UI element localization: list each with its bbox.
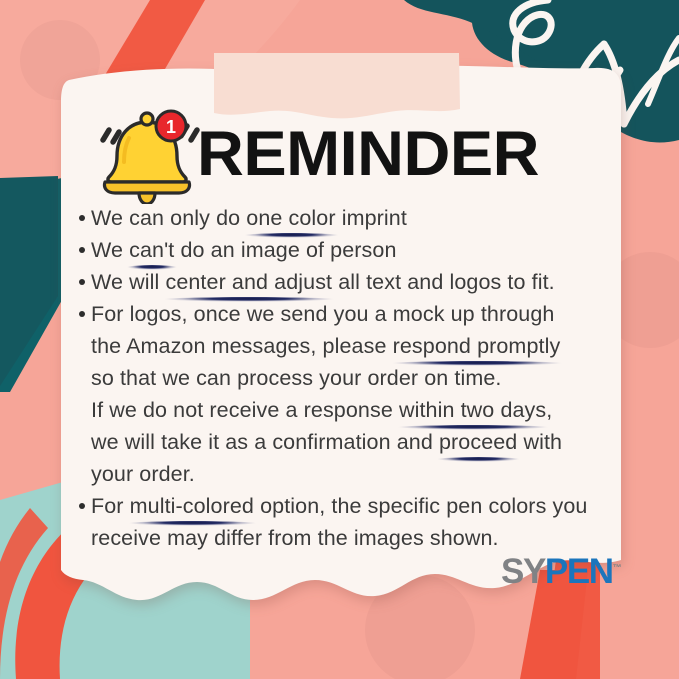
underlined-phrase: one color [246, 202, 335, 234]
bell-badge: 1 [156, 111, 186, 141]
bullet-text: We will center and adjust all text and l… [91, 266, 555, 298]
text-segment: We can only do [91, 206, 246, 230]
text-segment: receive may differ from the images shown… [91, 526, 499, 550]
bell-notification-icon: 1 [95, 104, 203, 204]
bullet-dot-icon [79, 311, 85, 317]
bullet-line: we will take it as a confirmation and pr… [73, 426, 626, 458]
underlined-phrase: multi-colored [130, 490, 254, 522]
bullet-dot-icon [79, 215, 85, 221]
bullet-text: We can't do an image of person [91, 234, 397, 266]
text-segment: the Amazon messages, please [91, 334, 393, 358]
text-segment: with [517, 430, 562, 454]
underlined-phrase: can't [129, 234, 174, 266]
bullet-dot-icon [79, 247, 85, 253]
underlined-phrase: proceed [439, 426, 517, 458]
bullet-text: For logos, once we send you a mock up th… [91, 298, 554, 330]
bullet-line: We can only do one color imprint [73, 202, 626, 234]
bullet-line: the Amazon messages, please respond prom… [73, 330, 626, 362]
card-header: 1 REMINDER [55, 100, 626, 210]
bullet-text: receive may differ from the images shown… [91, 522, 499, 554]
text-segment: If we do not receive a response [91, 398, 399, 422]
bullet-dot-icon [79, 279, 85, 285]
bullet-text: your order. [91, 458, 195, 490]
logo-text-sy: SY [501, 552, 545, 591]
bullet-line: so that we can process your order on tim… [73, 362, 626, 394]
text-segment: For logos, once we send you a mock up th… [91, 302, 554, 326]
note-card-content: 1 REMINDER We can only do one color impr… [55, 62, 626, 624]
text-segment: all text and logos to fit. [332, 270, 555, 294]
bullet-text: For multi-colored option, the specific p… [91, 490, 587, 522]
bullet-line: We can't do an image of person [73, 234, 626, 266]
text-segment: For [91, 494, 130, 518]
sypen-logo: SYPEN™ [501, 552, 622, 592]
bullet-text: we will take it as a confirmation and pr… [91, 426, 562, 458]
bullet-text: the Amazon messages, please respond prom… [91, 330, 560, 362]
bullet-text: so that we can process your order on tim… [91, 362, 502, 394]
text-segment: option, the specific pen colors you [254, 494, 587, 518]
text-segment: , [546, 398, 552, 422]
reminder-bullet-list: We can only do one color imprintWe can't… [73, 202, 626, 554]
logo-trademark: ™ [613, 562, 622, 572]
text-segment: imprint [336, 206, 407, 230]
text-segment: we will take it as a confirmation and [91, 430, 439, 454]
text-segment: so that we can process your order on tim… [91, 366, 502, 390]
bullet-line: We will center and adjust all text and l… [73, 266, 626, 298]
underlined-phrase: center and adjust [165, 266, 332, 298]
reminder-poster: 1 REMINDER We can only do one color impr… [0, 0, 679, 679]
page-title: REMINDER [197, 114, 539, 194]
bullet-line: For multi-colored option, the specific p… [73, 490, 626, 522]
underlined-phrase: respond promptly [393, 330, 561, 362]
bullet-line: If we do not receive a response within t… [73, 394, 626, 426]
text-segment: We [91, 238, 129, 262]
underlined-phrase: within two days [399, 394, 546, 426]
logo-text-pen: PEN [545, 552, 613, 591]
text-segment: do an image of person [174, 238, 396, 262]
bullet-line: your order. [73, 458, 626, 490]
text-segment: your order. [91, 462, 195, 486]
bullet-dot-icon [79, 503, 85, 509]
bullet-line: receive may differ from the images shown… [73, 522, 626, 554]
bullet-line: For logos, once we send you a mock up th… [73, 298, 626, 330]
bullet-text: If we do not receive a response within t… [91, 394, 552, 426]
text-segment: We will [91, 270, 165, 294]
bullet-text: We can only do one color imprint [91, 202, 407, 234]
bell-badge-count: 1 [166, 117, 176, 137]
